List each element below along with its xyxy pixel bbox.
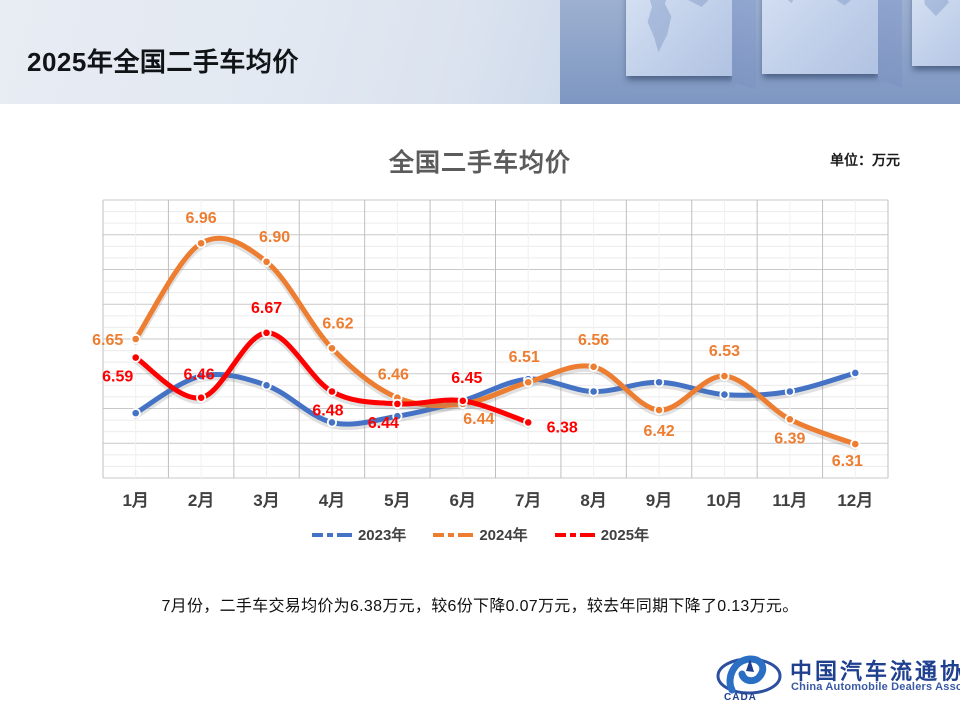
data-point (197, 393, 205, 401)
data-label: 6.51 (509, 349, 540, 366)
chart-unit-note: 单位：万元 (830, 150, 900, 170)
data-label: 6.59 (102, 369, 133, 386)
page-header: 2025年全国二手车均价 (0, 0, 960, 104)
data-label: 6.44 (368, 415, 399, 432)
summary-caption: 7月份，二手车交易均价为6.38万元，较6份下降0.07万元，较去年同期下降了0… (0, 592, 960, 616)
x-axis-label: 9月 (646, 491, 672, 510)
legend-swatch-2025 (554, 529, 596, 541)
x-axis-label: 1月 (122, 491, 148, 510)
data-point (655, 378, 663, 386)
data-point (786, 415, 794, 423)
organization-logo: 中国汽车流通协会 China Automobile Dealers Associ… (716, 652, 952, 710)
data-point (262, 381, 270, 389)
x-axis-label: 6月 (450, 491, 476, 510)
data-point (524, 378, 532, 386)
legend-swatch-2023 (311, 529, 353, 541)
legend-label-2023: 2023年 (358, 524, 406, 545)
data-point (459, 397, 467, 405)
data-point (328, 344, 336, 352)
data-label: 6.90 (259, 229, 290, 246)
x-axis-label: 8月 (580, 491, 606, 510)
data-label: 6.31 (832, 453, 863, 470)
chart-title: 全国二手车均价 (0, 143, 960, 179)
data-label: 6.96 (186, 210, 217, 227)
chart-legend: 2023年 2024年 2025年 (0, 524, 960, 545)
data-label: 6.42 (643, 423, 674, 440)
legend-item-2024[interactable]: 2024年 (432, 524, 527, 545)
data-point (393, 400, 401, 408)
legend-item-2023[interactable]: 2023年 (311, 524, 406, 545)
cube-icon (912, 0, 960, 66)
data-point (589, 363, 597, 371)
data-label: 6.56 (578, 332, 609, 349)
data-point (851, 369, 859, 377)
x-axis-label: 4月 (319, 491, 345, 510)
data-point (851, 440, 859, 448)
legend-item-2025[interactable]: 2025年 (554, 524, 649, 545)
data-label: 6.46 (184, 367, 215, 384)
data-label: 6.48 (312, 403, 343, 420)
legend-swatch-2024 (432, 529, 474, 541)
logo-mark: CADA (724, 692, 757, 703)
legend-label-2024: 2024年 (479, 524, 527, 545)
data-point (262, 258, 270, 266)
legend-label-2025: 2025年 (601, 524, 649, 545)
x-axis-label: 2月 (188, 491, 214, 510)
x-axis-label: 5月 (384, 491, 410, 510)
x-axis-label: 10月 (706, 491, 742, 510)
line-chart: 6.656.966.906.626.466.446.516.566.426.53… (0, 180, 960, 510)
data-label: 6.38 (547, 419, 578, 436)
data-label: 6.62 (322, 315, 353, 332)
x-axis-label: 11月 (772, 491, 807, 510)
x-axis-label: 7月 (515, 491, 541, 510)
page-title: 2025年全国二手车均价 (27, 42, 299, 79)
logo-name-en: China Automobile Dealers Association (791, 681, 960, 693)
data-point (328, 387, 336, 395)
data-point (786, 387, 794, 395)
header-divider (0, 104, 960, 106)
data-label: 6.46 (378, 367, 409, 384)
data-label: 6.65 (92, 332, 123, 349)
data-point (720, 372, 728, 380)
data-label: 6.39 (774, 430, 805, 447)
data-point (720, 390, 728, 398)
x-axis-label: 3月 (253, 491, 279, 510)
data-point (197, 239, 205, 247)
data-point (262, 329, 270, 337)
x-axis-label: 12月 (837, 491, 873, 510)
data-point (132, 335, 140, 343)
data-point (132, 353, 140, 361)
data-label: 6.67 (251, 300, 282, 317)
cube-icon (626, 0, 734, 76)
cube-icon (762, 0, 880, 74)
data-point (655, 406, 663, 414)
data-label: 6.45 (451, 370, 482, 387)
data-point (132, 409, 140, 417)
data-label: 6.53 (709, 343, 740, 360)
data-point (589, 387, 597, 395)
data-point (524, 418, 532, 426)
